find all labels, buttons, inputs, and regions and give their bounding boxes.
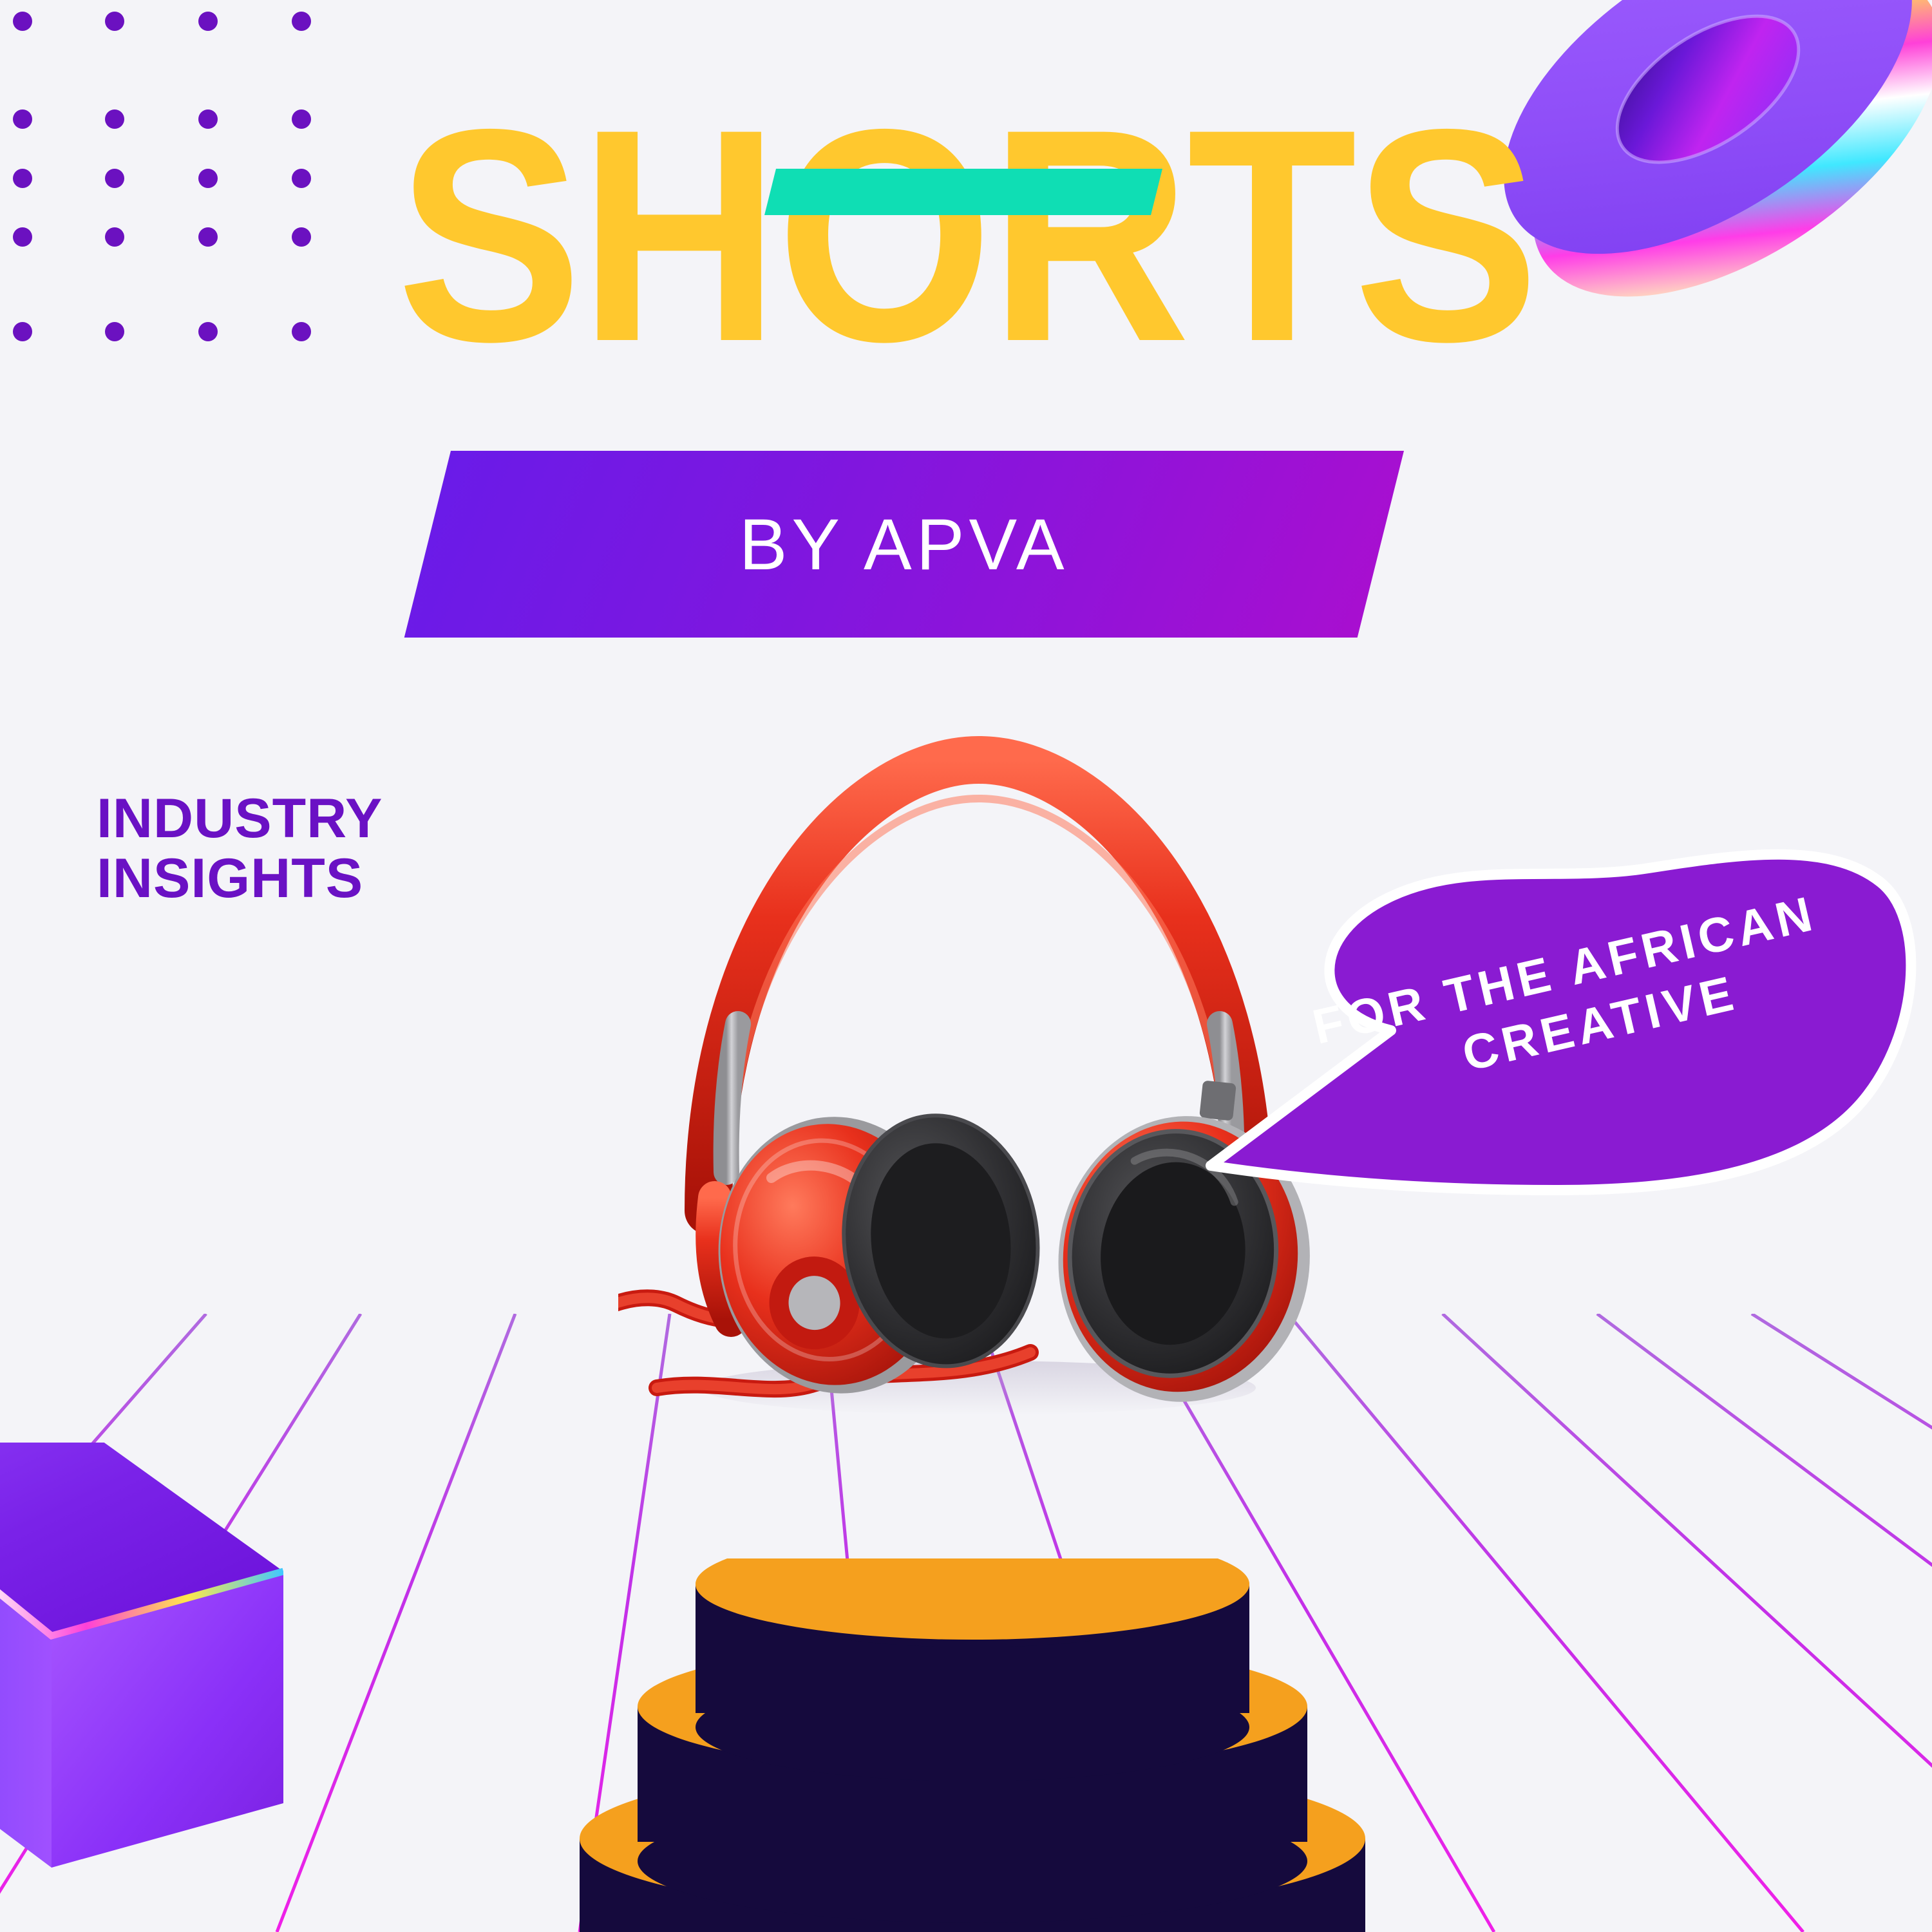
poster-canvas: SHORTS BY APVA INDUSTRY INSIGHTS	[0, 0, 1932, 1932]
podium-tier-top	[696, 1558, 1249, 1713]
byline-banner: BY APVA	[412, 451, 1455, 663]
speech-bubble	[1198, 837, 1926, 1236]
headline-text: SHORTS	[397, 97, 1536, 375]
podium-display-stand	[361, 1558, 1584, 1932]
banner-label: BY APVA	[739, 503, 1069, 586]
dot	[13, 12, 32, 31]
dot	[198, 12, 218, 31]
dot	[292, 12, 311, 31]
iridescent-cube-icon	[0, 1443, 283, 1932]
insights-line-2: INSIGHTS	[97, 849, 547, 909]
teal-accent-bar	[764, 169, 1162, 215]
banner-shape: BY APVA	[404, 451, 1404, 638]
insights-line-1: INDUSTRY	[97, 789, 547, 849]
dot	[105, 12, 124, 31]
poster-headline: SHORTS	[0, 97, 1932, 375]
insights-heading: INDUSTRY INSIGHTS	[97, 789, 547, 909]
